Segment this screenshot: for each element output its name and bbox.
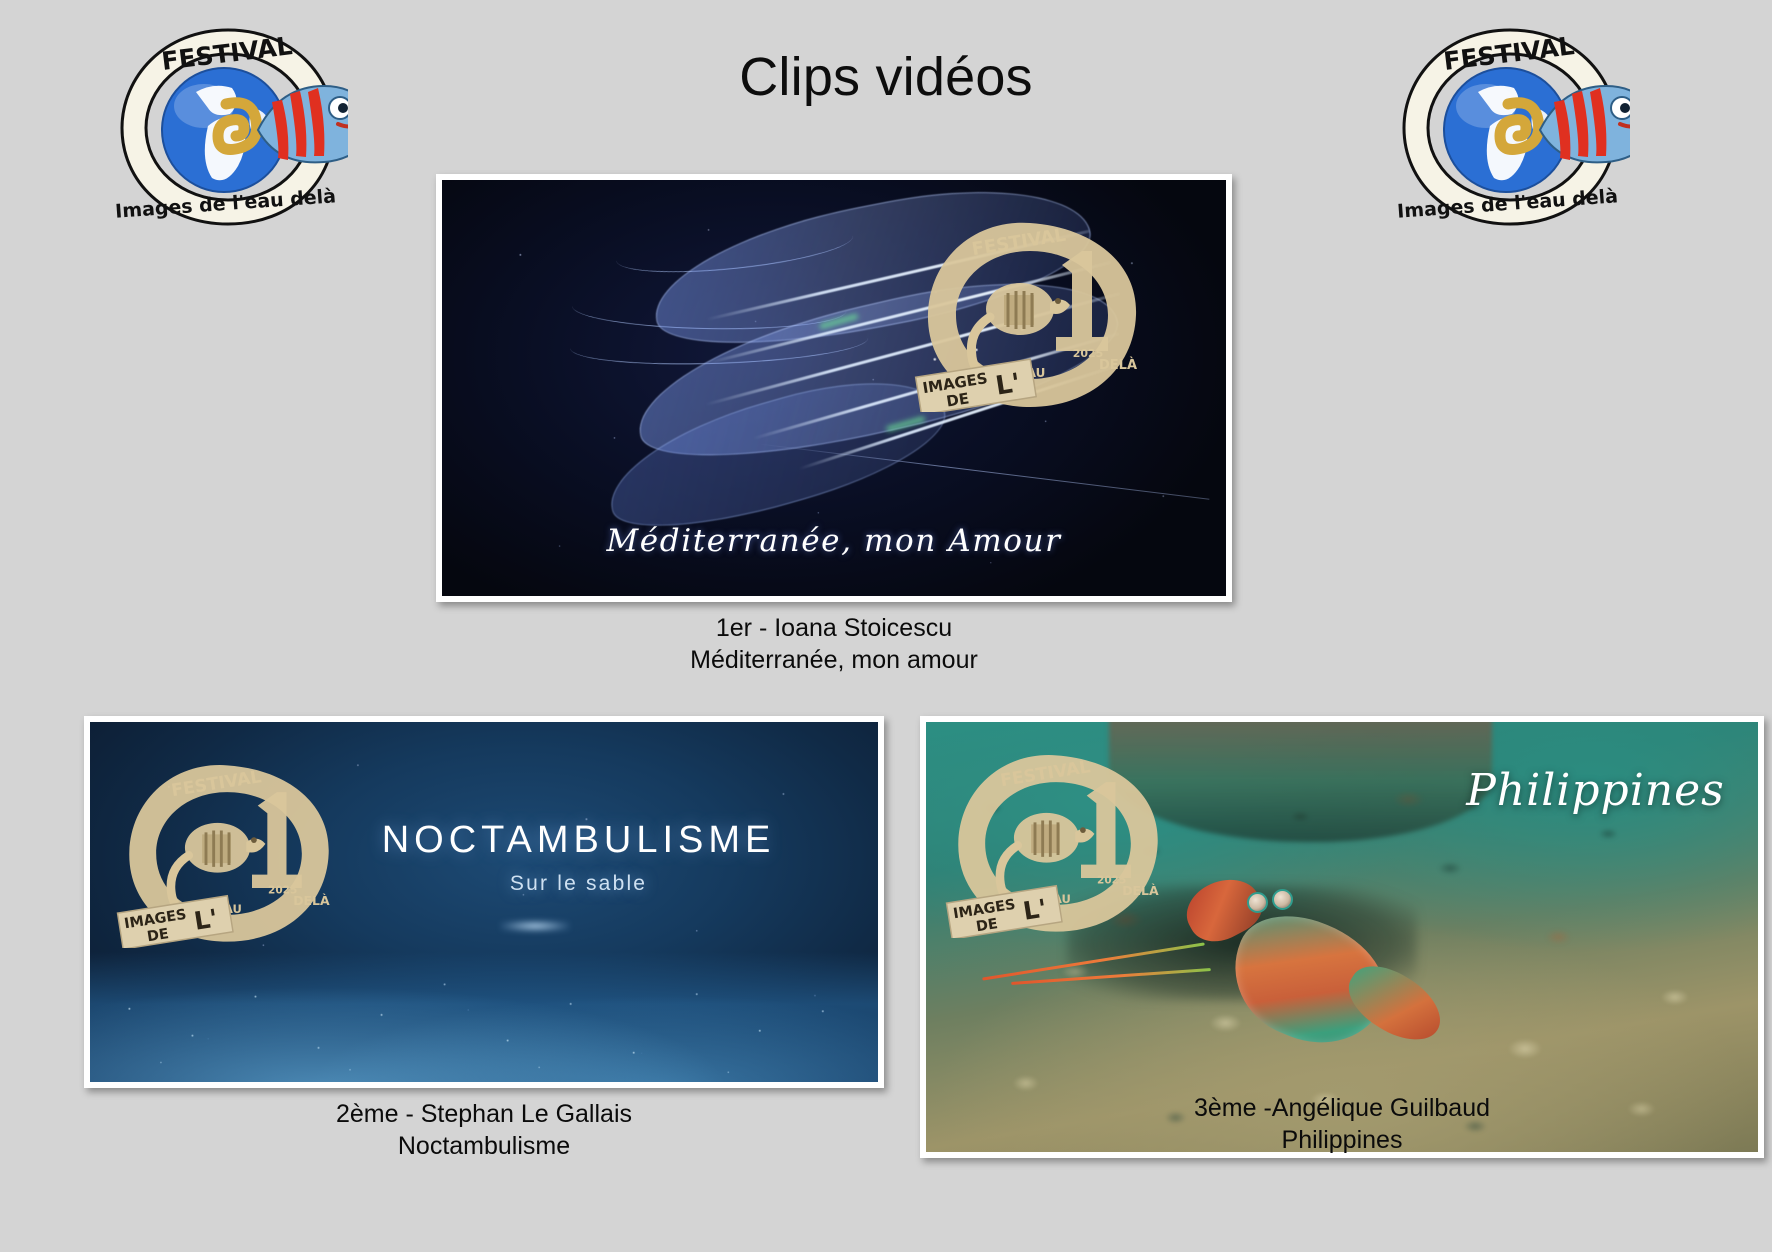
festival-logo-left-icon: FESTIVAL Images de l'eau delà bbox=[108, 22, 348, 232]
lens-flare bbox=[500, 920, 570, 932]
video-thumbnail-1[interactable]: FESTIVAL 2025 EAU DELÀ IMAGES DE L' Médi… bbox=[436, 174, 1232, 602]
peacock-mantis-shrimp bbox=[1176, 877, 1426, 1066]
caption-1-line1: 1er - Ioana Stoicescu bbox=[436, 612, 1232, 644]
photo-1-inner: FESTIVAL 2025 EAU DELÀ IMAGES DE L' Médi… bbox=[442, 180, 1226, 596]
mantis-shrimp-reef-photo: Philippines bbox=[926, 722, 1758, 1152]
photo-2-inner: NOCTAMBULISME Sur le sable FESTIVAL 202 bbox=[90, 722, 878, 1082]
caption-3: 3ème -Angélique Guilbaud Philippines bbox=[920, 1092, 1764, 1156]
photo-3-inner: Philippines FESTIVAL 2025 EAU DELÀ bbox=[926, 722, 1758, 1152]
sand-speckles bbox=[90, 960, 878, 1082]
shrimp-eye bbox=[1272, 889, 1293, 910]
caption-2: 2ème - Stephan Le Gallais Noctambulisme bbox=[84, 1098, 884, 1162]
photo-2-title-overlay: NOCTAMBULISME bbox=[326, 819, 830, 862]
caption-2-line1: 2ème - Stephan Le Gallais bbox=[84, 1098, 884, 1130]
noctambulisme-photo: NOCTAMBULISME Sur le sable bbox=[90, 722, 878, 1082]
caption-3-line2: Philippines bbox=[920, 1124, 1764, 1156]
video-thumbnail-2[interactable]: NOCTAMBULISME Sur le sable FESTIVAL 202 bbox=[84, 716, 884, 1088]
shrimp-eyes bbox=[1245, 888, 1360, 930]
photo-2-title-block: NOCTAMBULISME Sur le sable bbox=[326, 819, 830, 896]
caption-1-line2: Méditerranée, mon amour bbox=[436, 644, 1232, 676]
photo-3-title-overlay: Philippines bbox=[1466, 765, 1725, 816]
caption-3-line1: 3ème -Angélique Guilbaud bbox=[920, 1092, 1764, 1124]
festival-logo-right-icon: FESTIVAL Images de l'eau delà bbox=[1390, 22, 1630, 232]
photo-1-title-overlay: Méditerranée, mon Amour bbox=[442, 523, 1226, 559]
photo-2-subtitle-overlay: Sur le sable bbox=[326, 872, 830, 896]
caption-2-line2: Noctambulisme bbox=[84, 1130, 884, 1162]
caption-1: 1er - Ioana Stoicescu Méditerranée, mon … bbox=[436, 612, 1232, 676]
shrimp-eye bbox=[1247, 892, 1268, 913]
